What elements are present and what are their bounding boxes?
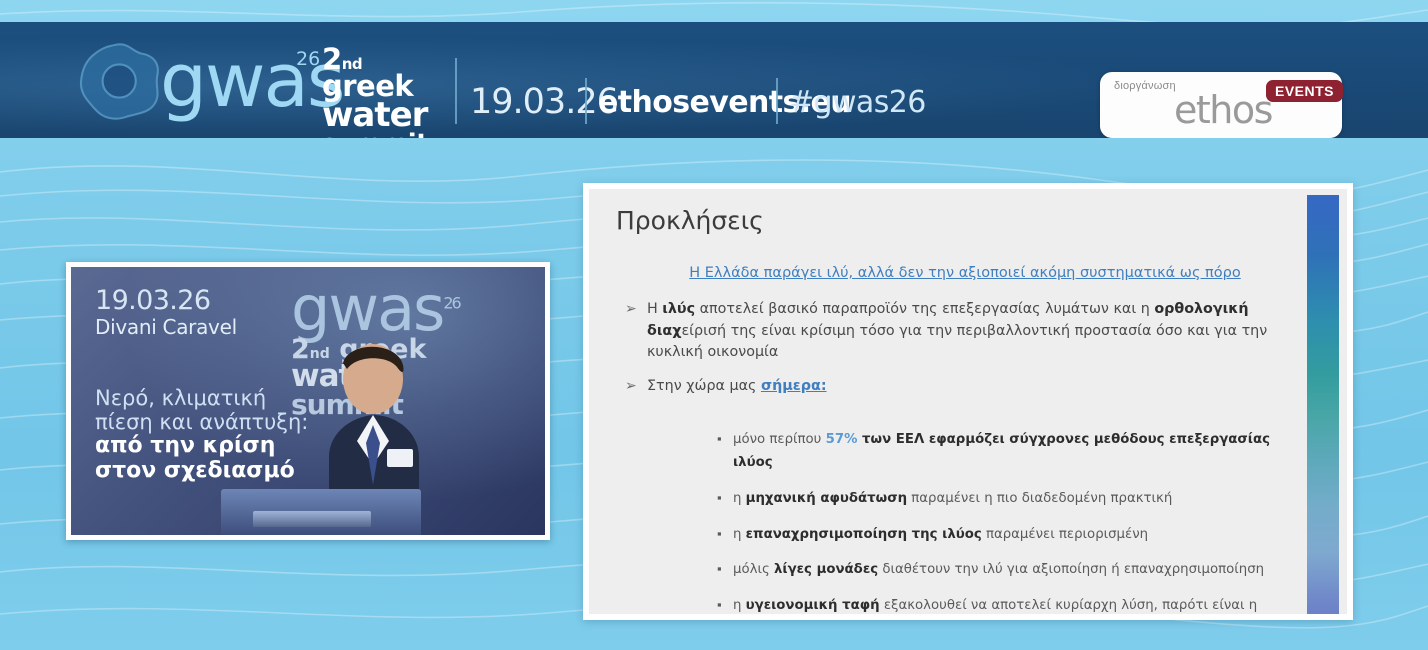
subbullet-text: η μηχανική αφυδάτωση παραμένει η πιο δια… [733,488,1277,511]
text-run: μόλις [733,562,774,577]
slide-bullet-list: ➢Η ιλύς αποτελεί βασικό παραπροϊόν της ε… [625,299,1285,410]
subbullet-item: ▪η μηχανική αφυδάτωση παραμένει η πιο δι… [717,488,1277,511]
bullet-text: Η ιλύς αποτελεί βασικό παραπροϊόν της επ… [647,299,1285,364]
subbullet-text: η επαναχρησιμοποίηση της ιλύος παραμένει… [733,524,1277,547]
summit-line-2: water [322,100,452,132]
slide-subtitle-link: Η Ελλάδα παράγει ιλύ, αλλά δεν την αξιοπ… [645,265,1285,281]
bullet-text: Στην χώρα μας σήμερα: [647,376,1285,398]
text-run: μηχανική αφυδάτωση [746,491,907,506]
dot-bullet-icon: ▪ [717,488,733,511]
bullet-item: ➢Στην χώρα μας σήμερα: [625,376,1285,398]
text-run: μόνο περίπου [733,432,826,447]
text-run: λίγες μονάδες [774,562,878,577]
text-run: ιλύς [662,301,695,317]
organizer-label: διοργάνωση [1114,80,1176,92]
video-title-bold-2: στον σχεδιασμό [95,459,308,484]
header-content: gwas 26 2nd greek water summit 19.03.26 … [0,22,1428,138]
video-title-line-2: πίεση και ανάπτυξη: [95,411,308,435]
header-divider-3 [776,78,778,124]
text-run: η [733,598,746,613]
podium-nameplate [253,511,371,527]
text-run: διαθέτουν την ιλύ για αξιοποίηση ή επανα… [878,562,1264,577]
slide-accent-gradient-bar [1307,195,1339,614]
arrow-bullet-icon: ➢ [625,299,647,364]
gwas-year-superscript: 26 [296,48,320,70]
speaker-video-thumbnail[interactable]: gwas26 2nd greek water summit 19.03.26 D… [66,262,550,540]
organizer-logo: διοργάνωση ethos EVENTS [1100,72,1342,138]
text-run: Η [647,301,662,317]
backdrop-gwas-wordmark: gwas26 [291,281,541,337]
slide-title: Προκλήσεις [616,206,764,235]
text-run: Στην χώρα μας [647,378,761,394]
subbullet-text: μόλις λίγες μονάδες διαθέτουν την ιλύ γι… [733,559,1277,582]
text-run: παραμένει η πιο διαδεδομένη πρακτική [907,491,1172,506]
subbullet-text: η υγειονομική ταφή εξακολουθεί να αποτελ… [733,595,1277,614]
dot-bullet-icon: ▪ [717,559,733,582]
summit-title: 2nd greek water summit [322,46,452,138]
slide-surface: Προκλήσεις Η Ελλάδα παράγει ιλύ, αλλά δε… [589,189,1347,614]
dot-bullet-icon: ▪ [717,524,733,547]
text-run: παραμένει περιορισμένη [982,527,1148,542]
presentation-slide[interactable]: Προκλήσεις Η Ελλάδα παράγει ιλύ, αλλά δε… [583,183,1353,620]
text-run[interactable]: σήμερα: [761,378,827,394]
bullet-item: ➢Η ιλύς αποτελεί βασικό παραπροϊόν της ε… [625,299,1285,364]
dot-bullet-icon: ▪ [717,595,733,614]
dot-bullet-icon: ▪ [717,429,733,475]
text-run: η [733,491,746,506]
text-run: επαναχρησιμοποίηση της ιλύος [746,527,982,542]
video-venue: Divani Caravel [95,315,237,339]
slide-subbullet-list: ▪μόνο περίπου 57% των ΕΕΛ εφαρμόζει σύγχ… [717,429,1277,614]
text-run: η [733,527,746,542]
text-run: είρισή της είναι κρίσιμη τόσο για την πε… [647,323,1267,361]
subbullet-item: ▪η επαναχρησιμοποίηση της ιλύος παραμένε… [717,524,1277,547]
event-hashtag: #gwas26 [789,85,926,120]
text-run: υγειονομική ταφή [746,598,880,613]
subbullet-item: ▪η υγειονομική ταφή εξακολουθεί να αποτε… [717,595,1277,614]
subbullet-item: ▪μόνο περίπου 57% των ΕΕΛ εφαρμόζει σύγχ… [717,429,1277,475]
backdrop-year-superscript: 26 [443,293,459,312]
video-event-date: 19.03.26 [95,285,210,316]
video-frame: gwas26 2nd greek water summit 19.03.26 D… [71,267,545,535]
event-header-band: gwas 26 2nd greek water summit 19.03.26 … [0,22,1428,138]
arrow-bullet-icon: ➢ [625,376,647,398]
video-title-bold-1: από την κρίση [95,434,308,459]
header-divider-2 [585,78,587,124]
event-date: 19.03.26 [470,82,618,122]
gwas-blob-logo-icon [78,42,162,120]
video-title-line-1: Νερό, κλιματική [95,387,308,411]
subbullet-text: μόνο περίπου 57% των ΕΕΛ εφαρμόζει σύγχρ… [733,429,1277,475]
text-run: αποτελεί βασικό παραπροϊόν της επεξεργασ… [695,301,1154,317]
summit-line-3: summit [322,132,452,138]
video-session-title: Νερό, κλιματική πίεση και ανάπτυξη: από … [95,387,308,483]
subbullet-item: ▪μόλις λίγες μονάδες διαθέτουν την ιλύ γ… [717,559,1277,582]
organizer-name: ethos [1174,88,1272,132]
text-run: 57% [826,432,858,447]
header-divider-1 [455,58,457,124]
organizer-events-badge: EVENTS [1266,80,1343,102]
summit-line-1: 2nd greek [322,46,452,100]
